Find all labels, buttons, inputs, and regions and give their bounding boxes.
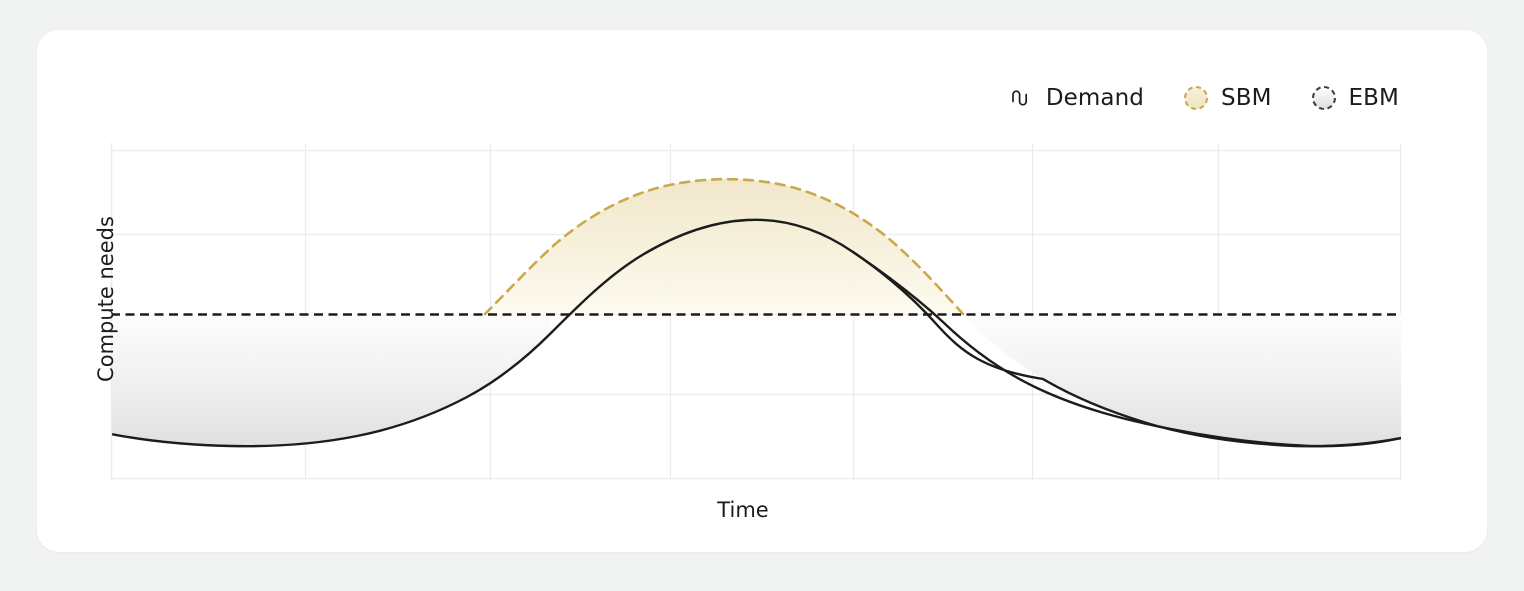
chart-card: Demand SBM	[37, 30, 1487, 552]
axis-label-y: Compute needs	[94, 199, 118, 399]
ebm-area-right	[962, 314, 1401, 446]
plot-area: Compute needs Time	[37, 30, 1487, 552]
ebm-area	[111, 314, 551, 446]
sbm-area	[485, 179, 963, 314]
axis-label-x: Time	[37, 498, 1449, 522]
page-root: Demand SBM	[0, 0, 1524, 591]
chart-svg	[37, 30, 1487, 552]
